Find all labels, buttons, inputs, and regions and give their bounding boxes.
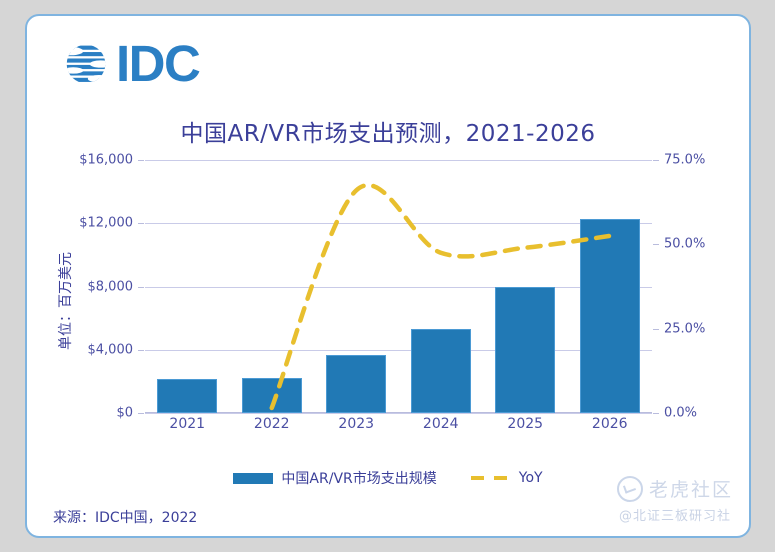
y-axis-label-left: $12,000: [79, 216, 133, 231]
x-axis-label-2023: 2023: [338, 416, 374, 432]
legend-bar-swatch: [233, 473, 273, 484]
legend-bar-label: 中国AR/VR市场支出规模: [281, 468, 436, 488]
x-axis-label-2024: 2024: [423, 416, 459, 432]
y-axis-label-left: $16,000: [79, 153, 133, 168]
gridline: [145, 413, 652, 414]
x-axis-label-2021: 2021: [169, 416, 205, 432]
y-axis-tick-right: [653, 160, 659, 161]
legend-line-swatch: [471, 476, 511, 480]
y-axis-title: 单位：百万美元: [55, 252, 75, 350]
y-axis-tick-right: [653, 413, 659, 414]
legend-item-bar: 中国AR/VR市场支出规模: [233, 468, 436, 488]
tiger-community-logo-icon: [617, 476, 643, 502]
x-axis-label-2026: 2026: [592, 416, 628, 432]
legend-item-line: YoY: [471, 470, 543, 486]
y-axis-label-left: $4,000: [88, 342, 134, 357]
y-axis-label-left: $8,000: [88, 279, 134, 294]
screenshot-root: IDC 中国AR/VR市场支出预测，2021-2026 单位：百万美元 $0$4…: [0, 0, 775, 552]
y-axis-tick-right: [653, 244, 659, 245]
x-axis-label-2022: 2022: [254, 416, 290, 432]
source-note: 来源：IDC中国，2022: [53, 507, 197, 527]
idc-globe-icon: [63, 41, 109, 87]
x-axis-label-2025: 2025: [507, 416, 543, 432]
y-axis-tick-left: [138, 413, 144, 414]
chart-title: 中国AR/VR市场支出预测，2021-2026: [27, 114, 749, 148]
y-axis-label-right: 25.0%: [664, 321, 705, 336]
plot-area: $0$4,000$8,000$12,000$16,000 0.0%25.0%50…: [145, 160, 652, 413]
legend-line-label: YoY: [519, 470, 543, 486]
watermark: 老虎社区: [617, 475, 733, 502]
yoy-line-series: [145, 160, 652, 413]
watermark-text: 老虎社区: [649, 475, 733, 502]
y-axis-label-right: 75.0%: [664, 153, 705, 168]
x-axis-labels: 202120222023202420252026: [145, 416, 652, 442]
y-axis-label-left: $0: [116, 406, 133, 421]
idc-wordmark: IDC: [116, 38, 199, 89]
y-axis-tick-right: [653, 329, 659, 330]
y-axis-label-right: 50.0%: [664, 237, 705, 252]
idc-brand: IDC: [63, 38, 199, 89]
y-axis-label-right: 0.0%: [664, 406, 697, 421]
y-axis-tick-left: [138, 160, 144, 161]
y-axis-tick-left: [138, 350, 144, 351]
y-axis-tick-left: [138, 287, 144, 288]
chart-card: IDC 中国AR/VR市场支出预测，2021-2026 单位：百万美元 $0$4…: [25, 14, 751, 538]
yoy-line-path: [272, 185, 610, 408]
y-axis-tick-left: [138, 223, 144, 224]
watermark-handle: @北证三板研习社: [619, 505, 731, 524]
